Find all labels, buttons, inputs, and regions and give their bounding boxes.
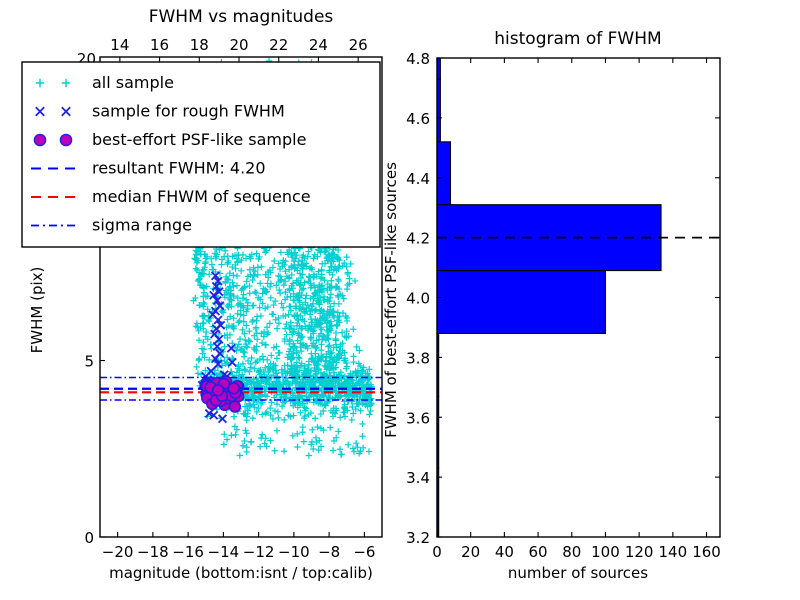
left-ytick-label: 0 xyxy=(84,529,94,547)
left-xtick-label: −10 xyxy=(278,543,310,561)
right-ytick-label: 4.6 xyxy=(406,110,430,128)
right-xtick-label: 100 xyxy=(591,543,620,561)
right-xtick-label: 60 xyxy=(529,543,548,561)
left-top-xtick-label: 26 xyxy=(349,36,368,54)
right-xtick-label: 80 xyxy=(562,543,581,561)
left-top-xtick-label: 14 xyxy=(110,36,129,54)
left-top-xtick-label: 18 xyxy=(190,36,209,54)
right-xtick-label: 40 xyxy=(495,543,514,561)
right-xtick-label: 140 xyxy=(659,543,688,561)
legend: all samplesample for rough FWHMbest-effo… xyxy=(22,62,380,247)
left-ytick-label: 5 xyxy=(84,353,94,371)
left-xtick-label: −16 xyxy=(172,543,204,561)
right-panel-title: histogram of FWHM xyxy=(494,29,661,49)
right-ytick-label: 3.6 xyxy=(406,409,430,427)
left-xtick-label: −8 xyxy=(318,543,340,561)
left-top-xtick-label: 24 xyxy=(309,36,328,54)
left-top-xtick-label: 16 xyxy=(150,36,169,54)
left-xlabel: magnitude (bottom:isnt / top:calib) xyxy=(109,564,373,582)
legend-item-label: resultant FWHM: 4.20 xyxy=(92,159,266,178)
psf-like-point xyxy=(213,385,224,396)
right-xtick-label: 120 xyxy=(625,543,654,561)
left-ylabel: FWHM (pix) xyxy=(28,267,46,354)
figure-canvas: FWHM vs magnitudes 14161820222426 −20−18… xyxy=(0,0,800,600)
right-ytick-label: 4.2 xyxy=(406,230,430,248)
right-xtick-label: 160 xyxy=(692,543,721,561)
left-xtick-label: −20 xyxy=(102,543,134,561)
legend-item-label: best-effort PSF-like sample xyxy=(92,130,306,149)
histogram-bar xyxy=(437,142,450,205)
right-ytick-label: 4.0 xyxy=(406,290,430,308)
left-panel-title: FWHM vs magnitudes xyxy=(149,7,334,27)
legend-item-label: all sample xyxy=(92,73,174,92)
psf-like-point xyxy=(230,401,241,412)
right-ytick-label: 4.8 xyxy=(406,50,430,68)
legend-item-label: median FHWM of sequence xyxy=(92,187,311,206)
left-xtick-label: −12 xyxy=(243,543,275,561)
left-xtick-label: −14 xyxy=(208,543,240,561)
legend-item-label: sample for rough FWHM xyxy=(92,102,285,121)
legend-circle-marker xyxy=(34,134,45,145)
right-ytick-label: 3.8 xyxy=(406,349,430,367)
left-xtick-label: −6 xyxy=(353,543,375,561)
histogram-bar xyxy=(437,271,605,334)
right-ytick-label: 4.4 xyxy=(406,170,430,188)
legend-box xyxy=(22,62,380,247)
right-ytick-label: 3.4 xyxy=(406,469,430,487)
right-xtick-label: 0 xyxy=(432,543,442,561)
left-top-xtick-label: 20 xyxy=(229,36,248,54)
right-xlabel: number of sources xyxy=(508,564,648,582)
matplotlib-figure: FWHM vs magnitudes 14161820222426 −20−18… xyxy=(0,0,800,600)
left-xtick-label: −18 xyxy=(137,543,169,561)
right-ytick-label: 3.2 xyxy=(406,529,430,547)
right-ylabel: FWHM of best-effort PSF-like sources xyxy=(382,162,400,438)
right-xtick-label: 20 xyxy=(461,543,480,561)
scatter-psf-like-sample xyxy=(201,376,244,412)
legend-item-label: sigma range xyxy=(92,216,192,235)
left-top-xtick-label: 22 xyxy=(269,36,288,54)
legend-circle-marker xyxy=(60,134,71,145)
